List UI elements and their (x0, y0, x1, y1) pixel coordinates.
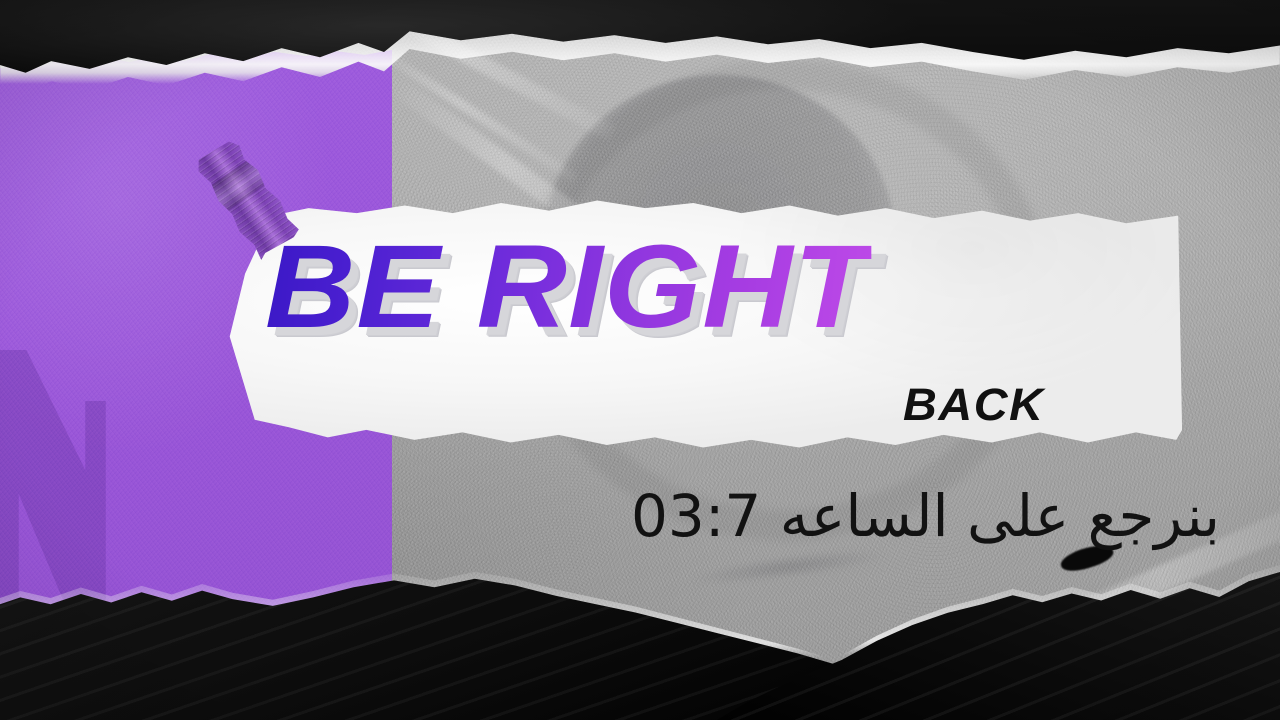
headline-group: BE RIGHT BE RIGHT (265, 228, 1115, 358)
brb-slide: BE RIGHT BE RIGHT BACK بنرجع على الساعه … (0, 0, 1280, 720)
headline-gradient-layer: BE RIGHT (265, 221, 871, 353)
arabic-return-time-message: بنرجع على الساعه 7:30 (631, 480, 1220, 553)
headline-primary: BE RIGHT BE RIGHT (265, 228, 1166, 346)
headline-secondary: BACK (903, 382, 1044, 427)
